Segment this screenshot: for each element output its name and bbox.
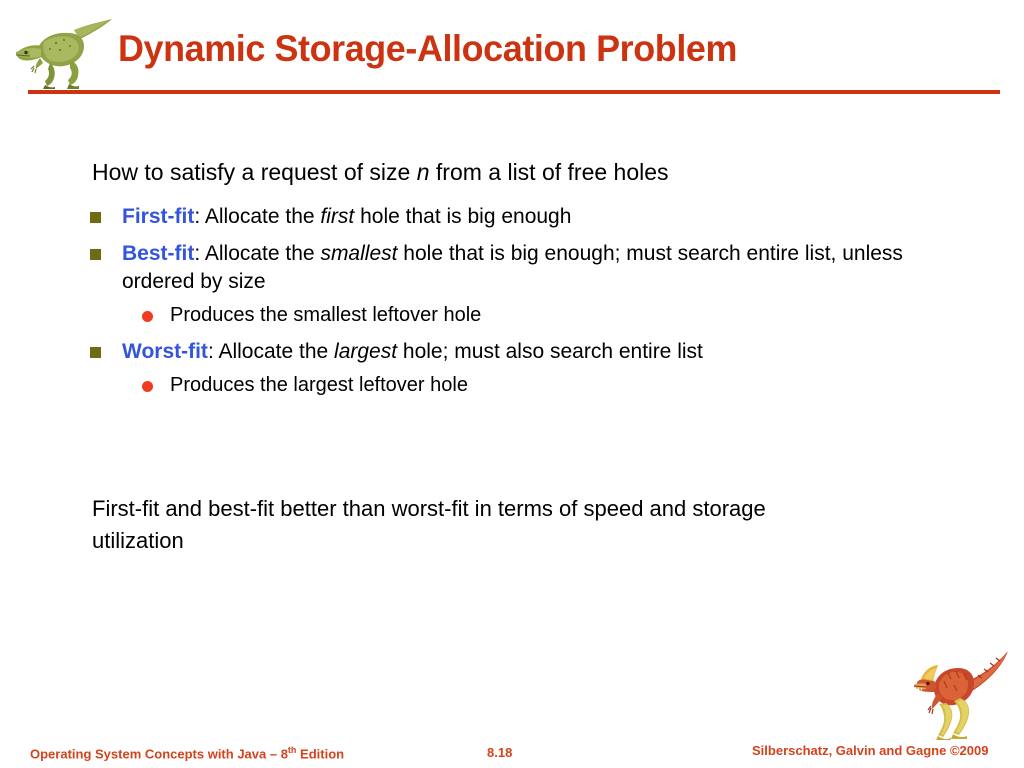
first-fit-text-after: hole that is big enough [354, 205, 571, 228]
page-title: Dynamic Storage-Allocation Problem [118, 27, 981, 71]
keyword-worst-fit: Worst-fit [122, 340, 208, 363]
best-fit-note-text: Produces the smallest leftover hole [170, 304, 481, 326]
keyword-first-fit: First-fit [122, 205, 194, 228]
lead-statement: How to satisfy a request of size n from … [92, 157, 669, 187]
lead-text-before: How to satisfy a request of size [92, 159, 417, 185]
slide-footer: Operating System Concepts with Java – 8t… [0, 725, 1024, 768]
lead-text-after: from a list of free holes [430, 159, 669, 185]
keyword-best-fit: Best-fit [122, 242, 194, 265]
olive-square-bullet-icon [90, 249, 101, 260]
slide-header: Dynamic Storage-Allocation Problem [0, 0, 1024, 105]
worst-fit-text-after: hole; must also search entire list [397, 340, 703, 363]
worst-fit-sublist: Produces the largest leftover hole [122, 372, 928, 399]
olive-square-bullet-icon [90, 347, 101, 358]
red-dot-bullet-icon [142, 311, 153, 322]
footer-book-title: Operating System Concepts with Java – 8t… [30, 745, 344, 761]
olive-square-bullet-icon [90, 212, 101, 223]
red-dot-bullet-icon [142, 381, 153, 392]
first-fit-italic-word: first [320, 205, 354, 228]
footer-copyright: Silberschatz, Galvin and Gagne ©2009 [752, 743, 988, 758]
footer-book-title-main: Operating System Concepts with Java – 8 [30, 746, 288, 761]
slide-body: How to satisfy a request of size n from … [0, 105, 1024, 725]
worst-fit-note-text: Produces the largest leftover hole [170, 374, 468, 396]
sublist-item-worst-fit-note: Produces the largest leftover hole [138, 372, 928, 399]
list-item-best-fit: Best-fit: Allocate the smallest hole tha… [88, 240, 928, 329]
green-dinosaur-icon [12, 16, 116, 90]
list-item-first-fit: First-fit: Allocate the first hole that … [88, 203, 928, 231]
allocation-strategies-list: First-fit: Allocate the first hole that … [88, 203, 928, 408]
closing-statement: First-fit and best-fit better than worst… [92, 493, 772, 557]
best-fit-text-before: : Allocate the [194, 242, 320, 265]
worst-fit-text-before: : Allocate the [208, 340, 334, 363]
green-dinosaur-logo [12, 16, 116, 90]
sublist-item-best-fit-note: Produces the smallest leftover hole [138, 302, 928, 329]
title-divider-rule [28, 90, 1000, 94]
footer-edition-tail: Edition [296, 746, 344, 761]
best-fit-italic-word: smallest [320, 242, 397, 265]
list-item-worst-fit: Worst-fit: Allocate the largest hole; mu… [88, 338, 928, 399]
best-fit-sublist: Produces the smallest leftover hole [122, 302, 928, 329]
worst-fit-italic-word: largest [334, 340, 397, 363]
lead-variable-n: n [417, 159, 430, 185]
footer-page-number: 8.18 [487, 745, 512, 760]
first-fit-text-before: : Allocate the [194, 205, 320, 228]
